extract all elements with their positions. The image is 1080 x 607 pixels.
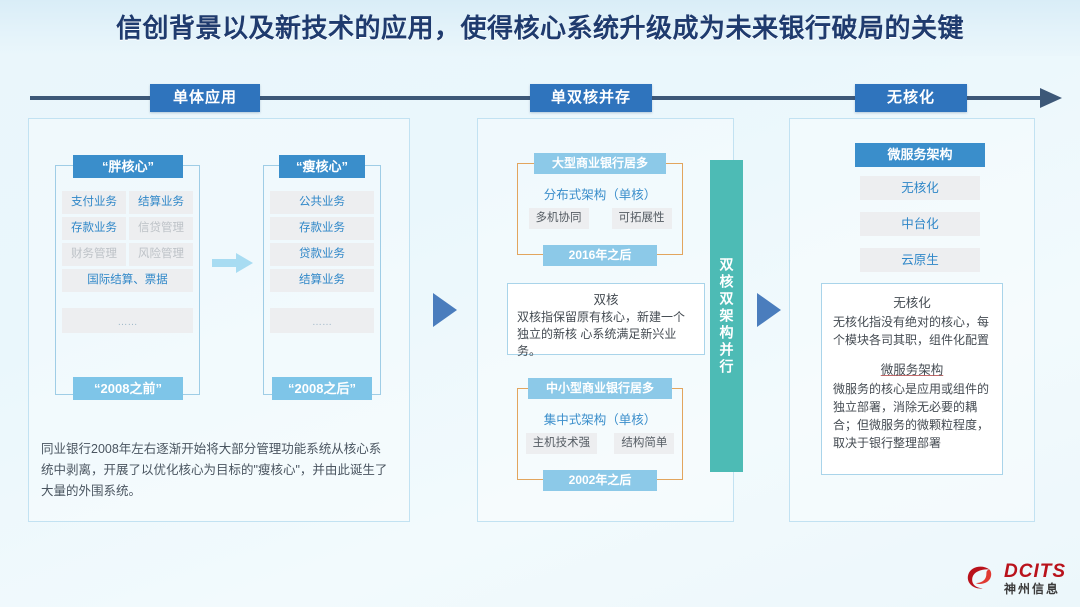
coreless-heading: 无核化 [833,292,991,311]
small-bank-group-era: 2002年之后 [543,470,657,491]
coreless-body: 无核化指没有绝对的核心，每个模块各司其职，组件化配置 [833,313,991,349]
fat-core-chip-4[interactable]: 财务管理 [62,243,126,266]
large-bank-group-chips: 多机协同可拓展性 [517,208,683,229]
microservice-title: 微服务架构 [855,143,985,167]
logo-text-block: DCITS 神州信息 [1004,562,1066,595]
thin-core-chip-2[interactable]: 贷款业务 [270,243,374,266]
fat-core-chip-7[interactable] [62,295,193,305]
small-bank-group-title: 中小型商业银行居多 [528,378,672,399]
large-bank-group-subtitle: 分布式架构（单核） [517,184,683,203]
thin-core-chip-0[interactable]: 公共业务 [270,191,374,214]
microservice-chip-2[interactable]: 云原生 [860,248,980,272]
microservice-chip-0[interactable]: 无核化 [860,176,980,200]
thin-core-chip-3[interactable]: 结算业务 [270,269,374,292]
timeline-phase-3[interactable]: 无核化 [855,84,967,112]
fat-core-title: “胖核心” [73,155,183,178]
small-bank-chip-1[interactable]: 结构简单 [614,433,674,454]
coreless-spacer [833,349,991,359]
fat-core-chip-3[interactable]: 信贷管理 [129,217,193,240]
thin-core-chip-4[interactable] [270,295,374,305]
dcits-swirl-icon [964,561,998,595]
panel-monolithic-description: 同业银行2008年左右逐渐开始将大部分管理功能系统从核心系统中剥离，开展了以优化… [41,439,393,502]
small-bank-chip-0[interactable]: 主机技术强 [526,433,598,454]
thin-core-chip-1[interactable]: 存款业务 [270,217,374,240]
microservice-body: 微服务的核心是应用或组件的独立部署，消除无必要的耦合；但微服务的微颗粒程度，取决… [833,380,991,452]
timeline-segment-1 [30,96,152,100]
arrow-panel2-to-panel3-icon [757,293,781,327]
timeline-phase-2[interactable]: 单双核并存 [530,84,652,112]
logo-cn-label: 神州信息 [1004,583,1066,595]
small-bank-group-chips: 主机技术强结构简单 [517,433,683,454]
thin-core-title: “瘦核心” [279,155,365,178]
dual-core-parallel-bar: 双核双架构并行 [710,160,743,472]
company-logo: DCITS 神州信息 [964,561,1066,595]
timeline-segment-4 [965,96,1041,100]
fat-core-chip-2[interactable]: 存款业务 [62,217,126,240]
page-title: 信创背景以及新技术的应用，使得核心系统升级成为未来银行破局的关键 [0,8,1080,45]
small-bank-group-subtitle: 集中式架构（单核） [517,409,683,428]
fat-core-chip-0[interactable]: 支付业务 [62,191,126,214]
timeline-segment-2 [258,96,532,100]
large-bank-chip-1[interactable]: 可拓展性 [612,208,672,229]
slide-canvas: 信创背景以及新技术的应用，使得核心系统升级成为未来银行破局的关键 单体应用 单双… [0,0,1080,607]
fat-core-chip-1[interactable]: 结算业务 [129,191,193,214]
microservice-chip-1[interactable]: 中台化 [860,212,980,236]
thin-core-chip-5[interactable]: …… [270,308,374,333]
dual-core-parallel-label: 双核双架构并行 [717,257,737,376]
fat-core-era: “2008之前” [73,377,183,400]
timeline: 单体应用 单双核并存 无核化 [0,84,1080,114]
dual-core-info-heading: 双核 [517,289,695,308]
arrow-panel1-to-panel2-icon [433,293,457,327]
large-bank-group-era: 2016年之后 [543,245,657,266]
coreless-info-box: 无核化 无核化指没有绝对的核心，每个模块各司其职，组件化配置 微服务架构 微服务… [821,283,1003,475]
fat-core-chip-6[interactable]: 国际结算、票据 [62,269,193,292]
microservice-chip-list: 无核化中台化云原生 [860,176,980,272]
transition-arrow-icon [212,252,254,274]
timeline-arrow-icon [1040,88,1062,108]
large-bank-chip-0[interactable]: 多机协同 [529,208,589,229]
fat-core-chip-list: 支付业务结算业务存款业务信贷管理财务管理风险管理国际结算、票据…… [62,191,193,333]
fat-core-chip-5[interactable]: 风险管理 [129,243,193,266]
thin-core-era: “2008之后” [272,377,372,400]
fat-core-chip-8[interactable]: …… [62,308,193,333]
microservice-heading: 微服务架构 [833,359,991,378]
timeline-segment-3 [650,96,855,100]
large-bank-group-title: 大型商业银行居多 [534,153,666,174]
dual-core-info-box: 双核 双核指保留原有核心，新建一个独立的新核 心系统满足新兴业务。 [507,283,705,355]
thin-core-chip-list: 公共业务存款业务贷款业务结算业务…… [270,191,374,333]
logo-en-label: DCITS [1004,562,1066,581]
dual-core-info-body: 双核指保留原有核心，新建一个独立的新核 心系统满足新兴业务。 [517,309,695,360]
timeline-phase-1[interactable]: 单体应用 [150,84,260,112]
